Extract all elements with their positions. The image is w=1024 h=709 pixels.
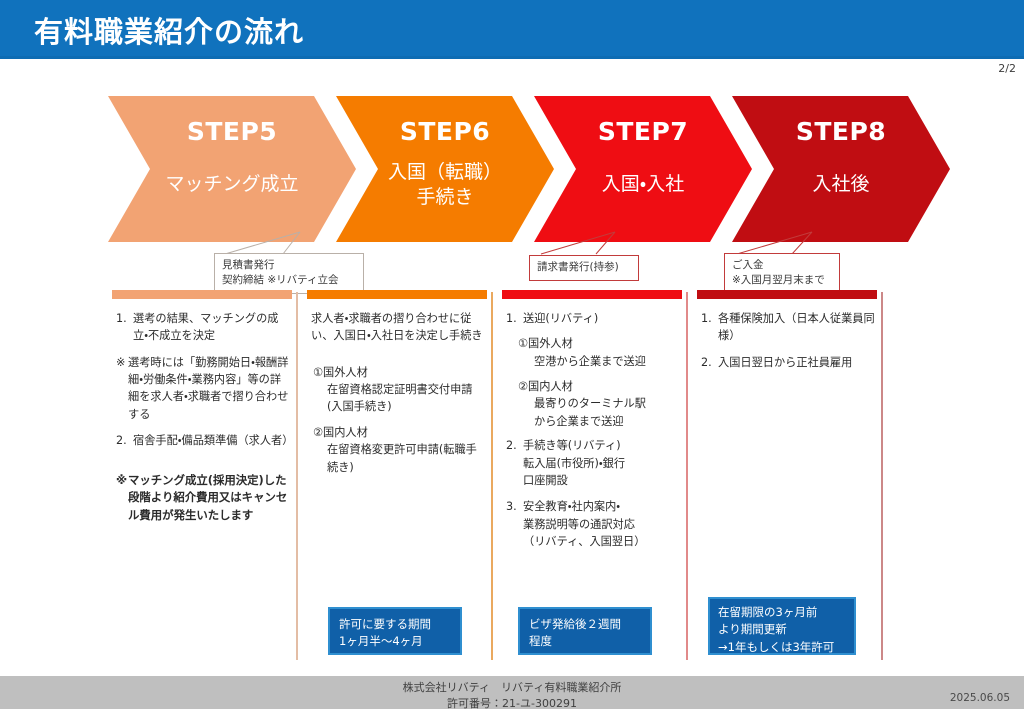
step-arrow-step5-title: マッチング成立 (108, 172, 356, 198)
list-item-text: 安全教育・社内案内・ 業務説明等の通訳対応 （リバティ、入国翌日） (523, 498, 682, 550)
step-arrow-step8-title: 入社後 (732, 172, 950, 198)
list-marker: 3. (506, 498, 523, 550)
header-underline (0, 56, 1024, 59)
result-box-step6: 許可に要する期間 1ヶ月半～4ヶ月 (328, 607, 462, 655)
list-marker: 1. (506, 310, 523, 327)
callout-payment-line1: ご入金 (732, 258, 832, 273)
column-step5: 1. 選考の結果、マッチングの成立・不成立を決定 ※ 選考時には「勤務開始日・報… (112, 290, 298, 662)
step-arrow-step7-label: STEP7 (534, 118, 752, 146)
column-step6-lead-text: 求人者・求職者の摺り合わせに従い、入国日・入社日を決定し手続き (311, 310, 487, 345)
list-item: ②国内人材 在留資格変更許可申請(転職手続き) (311, 424, 487, 476)
list-item-text: 送迎(リバティ) (523, 310, 682, 327)
callout-invoice: 請求書発行(持参) (529, 255, 639, 281)
sub-head: ①国外人材 (313, 364, 487, 381)
list-item-line2: 業務説明等の通訳対応 (523, 518, 635, 531)
list-item: ①国外人材 空港から企業まで送迎 (518, 335, 682, 370)
callout-quote-contract: 見積書発行 契約締結 ※リバティ立会 (214, 253, 364, 294)
step-arrow-step6-label: STEP6 (336, 118, 554, 146)
list-item-text: 入国日翌日から正社員雇用 (718, 354, 877, 371)
column-step5-divider (296, 292, 298, 660)
column-step5-top-bar (112, 290, 292, 299)
list-marker: 1. (701, 310, 718, 345)
list-item: ②国内人材 最寄りのターミナル駅 から企業まで送迎 (518, 378, 682, 430)
list-item-line1: 安全教育・社内案内・ (523, 500, 620, 513)
list-item: 1. 送迎(リバティ) (506, 310, 682, 327)
sub-head: ①国外人材 (518, 335, 682, 352)
list-item-text: 手続き等(リバティ) 転入届(市役所)・銀行 口座開設 (523, 437, 682, 489)
sub-head: ②国内人材 (518, 378, 682, 395)
step-arrow-row: STEP5 マッチング成立 STEP6 入国（転職） 手続き STEP7 入国・… (0, 96, 1024, 242)
slide-canvas: 有料職業紹介の流れ 2/2 STEP5 マッチング成立 STEP6 入国（転職）… (0, 0, 1024, 709)
result-box-step7-line1: ビザ発給後２週間 (529, 616, 641, 633)
callout-payment-line2: ※入国月翌月末まで (732, 273, 832, 288)
list-item-text: 宿舎手配・備品類準備（求人者） (133, 432, 292, 449)
footer-company: 株式会社リバティ リバティ有料職業紹介所 (0, 680, 1024, 696)
list-item: ※ 選考時には「勤務開始日・報酬詳細・労働条件・業務内容」等の詳細を求人者・求職… (116, 354, 292, 423)
list-item: 2. 入国日翌日から正社員雇用 (701, 354, 877, 371)
result-box-step6-line2: 1ヶ月半～4ヶ月 (339, 633, 451, 650)
list-marker: 2. (506, 437, 523, 489)
footer-license: 許可番号：21-ユ-300291 (0, 696, 1024, 709)
column-step7-divider (686, 292, 688, 660)
sub-body-line2: から企業まで送迎 (534, 413, 682, 430)
column-step6-body: 求人者・求職者の摺り合わせに従い、入国日・入社日を決定し手続き ①国外人材 在留… (311, 310, 487, 476)
column-step7-body: 1. 送迎(リバティ) ①国外人材 空港から企業まで送迎 ②国内人材 最寄りのタ… (506, 310, 682, 552)
step-arrow-step6-title-line2: 手続き (336, 185, 554, 211)
spacer (116, 452, 292, 463)
sub-head: ②国内人材 (313, 424, 487, 441)
note-marker: ※ (116, 472, 128, 525)
column-step5-body: 1. 選考の結果、マッチングの成立・不成立を決定 ※ 選考時には「勤務開始日・報… (116, 310, 292, 527)
list-marker: 2. (116, 432, 133, 449)
list-item: 2. 手続き等(リバティ) 転入届(市役所)・銀行 口座開設 (506, 437, 682, 489)
list-marker: 1. (116, 310, 133, 345)
callout-invoice-line1: 請求書発行(持参) (537, 260, 631, 275)
sub-body: 在留資格変更許可申請(転職手続き) (327, 441, 487, 476)
spacer (701, 347, 877, 354)
list-item: 2. 宿舎手配・備品類準備（求人者） (116, 432, 292, 449)
callout-quote-contract-line1: 見積書発行 (222, 258, 356, 273)
list-item-line3: 口座開設 (523, 474, 568, 487)
list-item-text: マッチング成立(採用決定)した段階より紹介費用又はキャンセル費用が発生いたします (128, 472, 292, 525)
list-item-line1: 手続き等(リバティ) (523, 439, 621, 452)
column-step6-divider (491, 292, 493, 660)
page-number: 2/2 (998, 62, 1016, 75)
sub-body: 空港から企業まで送迎 (534, 353, 682, 370)
callout-quote-contract-line2: 契約締結 ※リバティ立会 (222, 273, 356, 288)
sub-body: 在留資格認定証明書交付申請(入国手続き) (327, 381, 487, 416)
spacer (506, 491, 682, 498)
list-item: 1. 選考の結果、マッチングの成立・不成立を決定 (116, 310, 292, 345)
spacer (116, 425, 292, 432)
list-item-text: 選考の結果、マッチングの成立・不成立を決定 (133, 310, 292, 345)
column-step8-divider (881, 292, 883, 660)
column-step8-top-bar (697, 290, 877, 299)
result-box-step7-line2: 程度 (529, 633, 641, 650)
column-step6-top-bar (307, 290, 487, 299)
list-item: ①国外人材 在留資格認定証明書交付申請(入国手続き) (311, 364, 487, 416)
step-arrow-step6: STEP6 入国（転職） 手続き (336, 96, 554, 242)
column-step8-body: 1. 各種保険加入（日本人従業員同様） 2. 入国日翌日から正社員雇用 (701, 310, 877, 373)
result-box-step8-line2: より期間更新 (718, 621, 846, 638)
list-item: 3. 安全教育・社内案内・ 業務説明等の通訳対応 （リバティ、入国翌日） (506, 498, 682, 550)
step-arrow-step7-title: 入国・入社 (534, 172, 752, 198)
result-box-step6-line1: 許可に要する期間 (339, 616, 451, 633)
callout-payment: ご入金 ※入国月翌月末まで (724, 253, 840, 294)
column-step7-top-bar (502, 290, 682, 299)
result-box-step7: ビザ発給後２週間 程度 (518, 607, 652, 655)
list-marker: 2. (701, 354, 718, 371)
step-arrow-step8-label: STEP8 (732, 118, 950, 146)
spacer (506, 430, 682, 437)
result-box-step8: 在留期限の3ヶ月前 より期間更新 →1年もしくは3年許可 (708, 597, 856, 655)
sub-body-line1: 最寄りのターミナル駅 (534, 395, 682, 412)
result-box-step8-line1: 在留期限の3ヶ月前 (718, 604, 846, 621)
step-arrow-step7: STEP7 入国・入社 (534, 96, 752, 242)
footer-text: 株式会社リバティ リバティ有料職業紹介所 許可番号：21-ユ-300291 (0, 680, 1024, 709)
page-title: 有料職業紹介の流れ (34, 9, 304, 51)
spacer (311, 345, 487, 356)
list-item: ※ マッチング成立(採用決定)した段階より紹介費用又はキャンセル費用が発生いたし… (116, 472, 292, 525)
list-item-text: 各種保険加入（日本人従業員同様） (718, 310, 877, 345)
step-arrow-step5-label: STEP5 (108, 118, 356, 146)
list-item-line2: 転入届(市役所)・銀行 (523, 457, 625, 470)
step-arrow-step8: STEP8 入社後 (732, 96, 950, 242)
footer-date: 2025.06.05 (950, 692, 1010, 704)
list-item: 1. 各種保険加入（日本人従業員同様） (701, 310, 877, 345)
note-marker: ※ (116, 354, 128, 423)
list-item-text: 選考時には「勤務開始日・報酬詳細・労働条件・業務内容」等の詳細を求人者・求職者で… (128, 354, 292, 423)
step-arrow-step6-title: 入国（転職） (336, 160, 554, 186)
step-arrow-step5: STEP5 マッチング成立 (108, 96, 356, 242)
result-box-step8-line3: →1年もしくは3年許可 (718, 639, 846, 656)
list-item-line3: （リバティ、入国翌日） (523, 535, 645, 548)
